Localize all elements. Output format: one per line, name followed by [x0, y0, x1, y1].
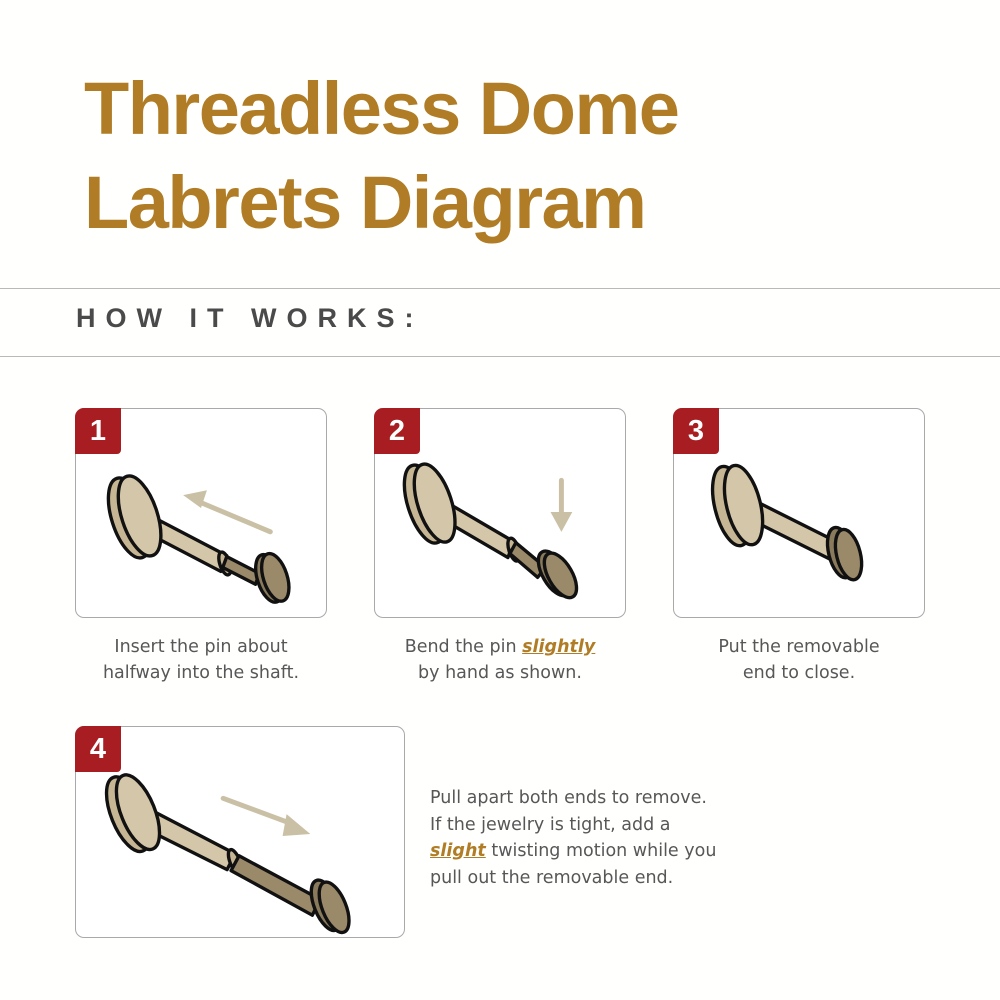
- arrow-left-up-icon: [183, 490, 270, 532]
- page-title-line-1: Threadless Dome: [84, 62, 904, 156]
- step-caption-2: Bend the pin slightly by hand as shown.: [374, 634, 626, 686]
- step-caption-4-line-3-rest: twisting motion while you: [486, 841, 717, 861]
- step-panel-3: 3: [673, 408, 925, 618]
- step-caption-4-line-2: If the jewelry is tight, add a: [430, 812, 730, 839]
- step-panel-1: 1: [75, 408, 327, 618]
- step-badge-2: 2: [374, 408, 420, 454]
- arrow-down-icon: [551, 480, 573, 532]
- step-caption-2-line-2: by hand as shown.: [374, 660, 626, 686]
- step-caption-2-text: Bend the pin: [405, 637, 522, 657]
- step-caption-1: Insert the pin about halfway into the sh…: [75, 634, 327, 686]
- step-caption-1-line-1: Insert the pin about: [75, 634, 327, 660]
- section-heading: HOW IT WORKS:: [76, 303, 423, 334]
- step-caption-2-emphasis: slightly: [522, 637, 595, 657]
- step-badge-3: 3: [673, 408, 719, 454]
- step-caption-1-line-2: halfway into the shaft.: [75, 660, 327, 686]
- divider-top: [0, 288, 1000, 289]
- page-title-line-2: Labrets Diagram: [84, 156, 904, 250]
- step-panel-4: 4: [75, 726, 405, 938]
- step-badge-1: 1: [75, 408, 121, 454]
- step-caption-4-line-3: slight twisting motion while you: [430, 838, 730, 865]
- divider-bottom: [0, 356, 1000, 357]
- step-caption-3-line-1: Put the removable: [673, 634, 925, 660]
- step-caption-3-line-2: end to close.: [673, 660, 925, 686]
- arrow-right-down-icon: [223, 798, 310, 836]
- step-badge-4: 4: [75, 726, 121, 772]
- step-caption-3: Put the removable end to close.: [673, 634, 925, 686]
- step-caption-2-line-1: Bend the pin slightly: [374, 634, 626, 660]
- step-caption-4: Pull apart both ends to remove. If the j…: [430, 785, 730, 891]
- step-caption-4-emphasis: slight: [430, 841, 486, 861]
- step-panel-2: 2: [374, 408, 626, 618]
- page-title: Threadless Dome Labrets Diagram: [84, 62, 904, 250]
- step-caption-4-line-1: Pull apart both ends to remove.: [430, 785, 730, 812]
- step-caption-4-line-4: pull out the removable end.: [430, 865, 730, 892]
- labret-illustration-step-4: [76, 727, 404, 937]
